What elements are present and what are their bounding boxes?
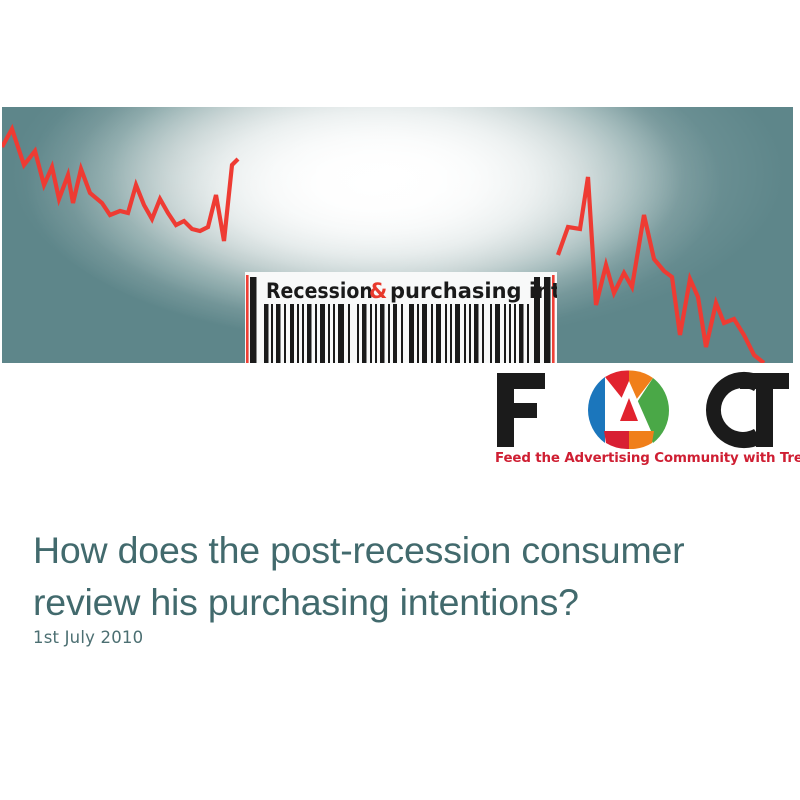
roundel-segment-blue <box>588 377 605 443</box>
presentation-date: 1st July 2010 <box>33 628 143 647</box>
barcode-guard-bar-left <box>250 277 257 363</box>
barcode-graphic: Recession & purchasing intention <box>245 272 557 363</box>
page-title: How does the post-recession consumer rev… <box>33 524 763 628</box>
barcode-label-part-2: purchasing intention <box>390 279 557 303</box>
logo-letter-a-roundel <box>588 370 669 449</box>
chart-line-right <box>558 177 764 363</box>
barcode-svg: Recession & purchasing intention <box>245 272 557 363</box>
fact-wordmark <box>493 369 789 451</box>
roundel-segment-crimson-bottom <box>604 431 629 449</box>
chart-line-left <box>2 129 238 241</box>
logo-tagline: Feed the Advertising Community with Tren… <box>495 451 791 466</box>
barcode-guard-line-left <box>246 275 249 363</box>
page-title-line-2: review his purchasing intentions? <box>33 581 579 623</box>
recession-banner-image: Recession & purchasing intention <box>2 107 793 363</box>
page-title-line-1: How does the post-recession consumer <box>33 529 684 571</box>
logo-letter-f <box>497 373 545 447</box>
fact-logo: Feed the Advertising Community with Tren… <box>493 369 793 477</box>
roundel-segment-orange-bottom <box>629 431 654 449</box>
barcode-label-ampersand: & <box>369 279 387 303</box>
slide-canvas: Recession & purchasing intention <box>0 0 800 800</box>
barcode-label-part-1: Recession <box>266 279 373 303</box>
